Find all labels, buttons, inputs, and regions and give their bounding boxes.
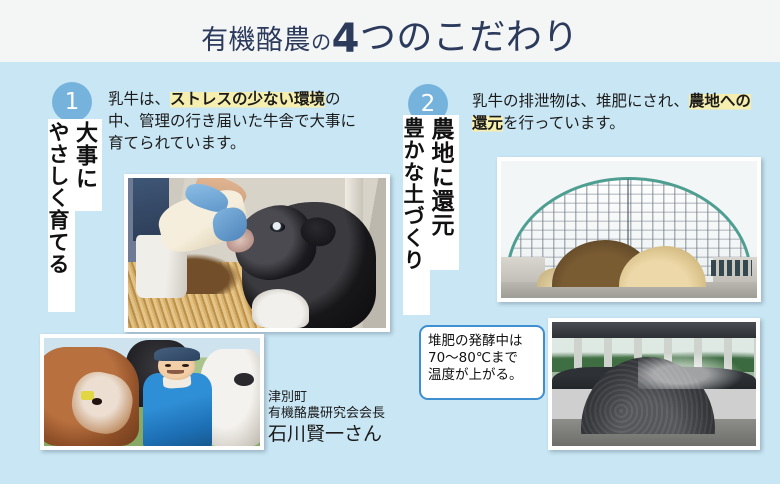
farmer-role: 有機酪農研究会会長 xyxy=(268,406,418,422)
farmer-photo-inner xyxy=(44,338,260,446)
white-cow-spot xyxy=(234,373,253,386)
section-2-body-text: 乳牛の排泄物は、堆肥にされ、農地への還元を行っています。 xyxy=(472,90,752,134)
page-title-prefix: 有機酪農 xyxy=(201,25,311,56)
title-band: 有機酪農の4つのこだわり xyxy=(0,0,780,62)
section-2-body-pre: 乳牛の排泄物は、堆肥にされ、 xyxy=(472,92,689,110)
compost-photo-inner xyxy=(552,322,756,446)
section-1-body-pre: 乳牛は、 xyxy=(108,90,170,108)
section-1-body-highlight: ストレスの少ない環境 xyxy=(170,90,325,108)
infographic-canvas: 有機酪農の4つのこだわり 1 乳牛は、ストレスの少ない環境の中、管理の行き届いた… xyxy=(0,0,780,484)
farmer-eye-right xyxy=(182,364,188,367)
section-2-vertical-sub-label: 豊かな土づくり xyxy=(403,115,430,315)
caption-line-1: 堆肥の発酵中は xyxy=(428,333,536,350)
farmer-town: 津別町 xyxy=(268,390,418,406)
section-1-number-badge: 1 xyxy=(52,82,92,122)
section-1-vertical-sub-label: やさしく育てる xyxy=(48,119,75,312)
caption-line-3: 温度が上がる。 xyxy=(428,367,536,384)
section-1-vertical-main-label: 大事に xyxy=(74,119,102,211)
page-title-number: 4 xyxy=(332,16,360,62)
cow-ear-tag xyxy=(81,391,94,400)
farmer-credit: 津別町 有機酪農研究会会長 石川賢一さん xyxy=(268,390,418,446)
page-title-particle: の xyxy=(311,30,332,54)
calf-bottle-feeding-photo xyxy=(124,174,390,332)
shed-roof xyxy=(552,322,756,338)
calf-white-marking xyxy=(252,289,309,328)
farmer-smile xyxy=(167,370,184,373)
brown-cow-eye xyxy=(92,398,103,404)
farmer-eye-left xyxy=(165,364,171,367)
compost-barn-photo xyxy=(497,157,761,302)
compost-pile-photo xyxy=(548,318,760,450)
section-2-body-post: を行っています。 xyxy=(503,114,625,132)
calf-photo-inner xyxy=(128,178,386,328)
page-title-suffix: つのこだわり xyxy=(360,17,579,58)
page-title: 有機酪農の4つのこだわり xyxy=(0,8,780,62)
barn-photo-inner xyxy=(501,161,757,298)
farmer-cap xyxy=(154,347,199,361)
caption-line-2: 70〜80℃まで xyxy=(428,350,536,367)
farmer-with-cows-photo xyxy=(40,334,264,450)
compost-steam xyxy=(638,352,744,389)
compost-temperature-caption: 堆肥の発酵中は 70〜80℃まで 温度が上がる。 xyxy=(419,325,545,400)
section-1-body-text: 乳牛は、ストレスの少ない環境の中、管理の行き届いた牛舎で大事に育てられています。 xyxy=(108,88,358,154)
farmer-name: 石川賢一さん xyxy=(268,422,418,446)
barn-side-openings xyxy=(711,260,752,276)
section-2-vertical-main-label: 農地に還元 xyxy=(430,115,459,270)
